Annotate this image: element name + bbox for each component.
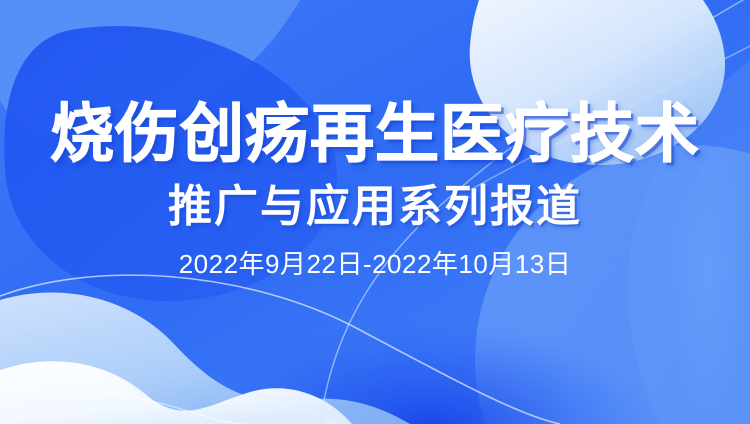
page-subtitle: 推广与应用系列报道 <box>168 183 582 231</box>
date-range-label: 2022年9月22日-2022年10月13日 <box>179 250 572 279</box>
page-title: 烧伤创疡再生医疗技术 <box>50 100 700 169</box>
banner-content: 烧伤创疡再生医疗技术 推广与应用系列报道 2022年9月22日-2022年10月… <box>0 0 750 424</box>
promo-banner: 烧伤创疡再生医疗技术 推广与应用系列报道 2022年9月22日-2022年10月… <box>0 0 750 424</box>
